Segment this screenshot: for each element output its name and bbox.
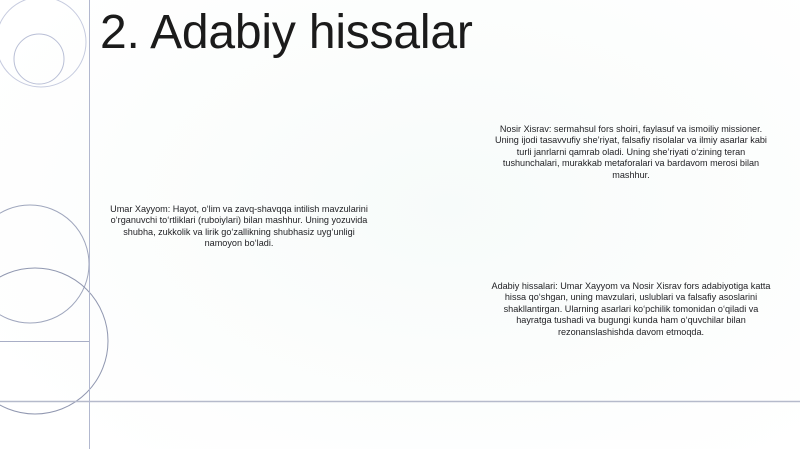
circle-outline-large	[0, 0, 86, 87]
circle-outline-small	[14, 34, 64, 84]
arc-outline-lower	[0, 268, 108, 414]
arc-outline-upper	[0, 205, 89, 323]
text-block-adabiy-hissalari: Adabiy hissalari: Umar Xayyom va Nosir X…	[485, 281, 777, 338]
text-block-umar-xayyom: Umar Xayyom: Hayot, o‘lim va zavq-shavqq…	[106, 204, 372, 250]
page-title: 2. Adabiy hissalar	[100, 0, 760, 66]
slide-canvas: 2. Adabiy hissalar Nosir Xisrav: sermahs…	[0, 0, 800, 449]
text-block-nosir-xisrav: Nosir Xisrav: sermahsul fors shoiri, fay…	[489, 124, 773, 181]
